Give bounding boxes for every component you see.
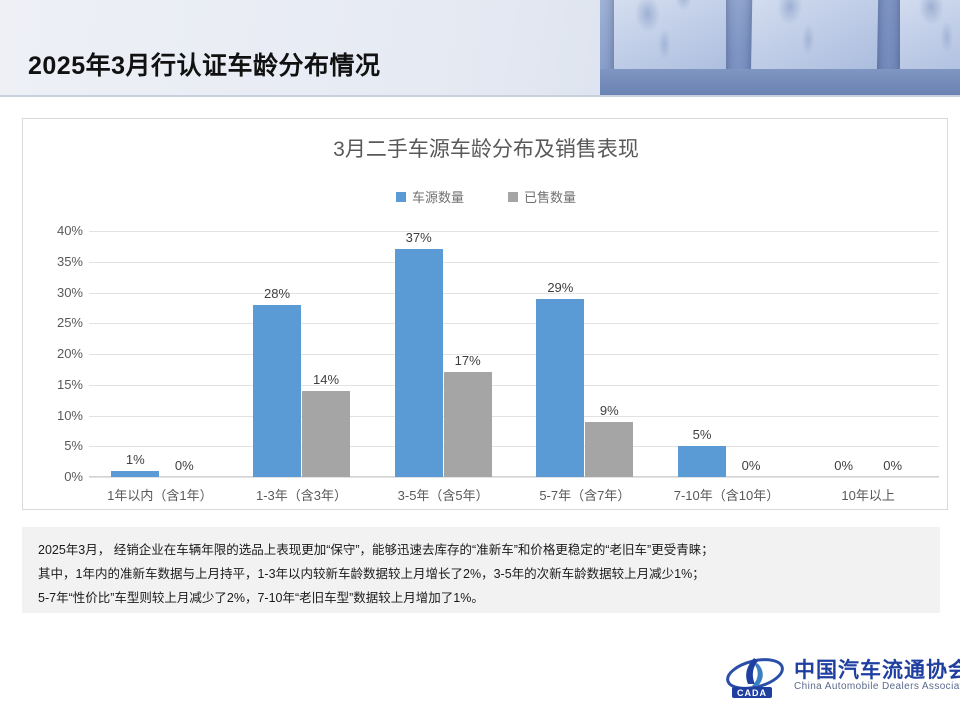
x-axis-category-label: 10年以上 <box>788 485 948 504</box>
gridline <box>89 416 939 417</box>
legend-label: 已售数量 <box>524 187 576 206</box>
bar-value-label: 0% <box>160 458 208 473</box>
chart-title: 3月二手车源车龄分布及销售表现 <box>23 133 949 163</box>
legend-swatch-icon <box>396 192 406 202</box>
y-axis-tick-label: 30% <box>37 285 83 300</box>
footnote-line-1: 其中，1年内的准新车数据与上月持平，1-3年以内较新车龄数据较上月增长了2%，3… <box>38 562 924 586</box>
header-band: 2025年3月行认证车龄分布情况 <box>0 0 960 95</box>
bar-1[interactable]: 9% <box>585 231 633 477</box>
bar-fill <box>395 249 443 477</box>
bar-value-label: 28% <box>253 286 301 301</box>
gridline <box>89 231 939 232</box>
y-axis-tick-label: 40% <box>37 223 83 238</box>
header-decoration-image <box>600 0 960 95</box>
y-axis-tick-label: 0% <box>37 469 83 484</box>
bar-value-label: 5% <box>678 427 726 442</box>
bar-fill <box>585 422 633 477</box>
y-axis-tick-label: 10% <box>37 408 83 423</box>
gridline <box>89 354 939 355</box>
gridline <box>89 385 939 386</box>
bar-value-label: 0% <box>869 458 917 473</box>
y-axis-tick-label: 25% <box>37 315 83 330</box>
logo-name-en: China Automobile Dealers Association <box>794 681 960 692</box>
bar-value-label: 1% <box>111 452 159 467</box>
x-axis-line <box>89 476 939 477</box>
decoration-floor <box>600 69 960 95</box>
x-axis-category-label: 3-5年（含5年） <box>363 485 523 504</box>
bar-value-label: 9% <box>585 403 633 418</box>
bar-fill <box>536 299 584 477</box>
y-axis-tick-label: 35% <box>37 254 83 269</box>
bar-fill <box>111 471 159 477</box>
bar-0[interactable]: 28% <box>253 231 301 477</box>
footnote-line-0: 2025年3月， 经销企业在车辆年限的选品上表现更加“保守”，能够迅速去库存的“… <box>38 538 924 562</box>
cada-logo-icon: CADA <box>724 654 786 700</box>
organization-logo: CADA 中国汽车流通协会 China Automobile Dealers A… <box>724 652 940 704</box>
bar-value-label: 14% <box>302 372 350 387</box>
bar-1[interactable]: 0% <box>869 231 917 477</box>
bar-group: 0%0% <box>820 231 917 477</box>
legend-label: 车源数量 <box>412 187 464 206</box>
bar-group: 28%14% <box>253 231 350 477</box>
bar-0[interactable]: 29% <box>536 231 584 477</box>
decorative-cube <box>900 0 960 75</box>
bar-fill <box>253 305 301 477</box>
legend-entry-1[interactable]: 已售数量 <box>508 187 576 206</box>
gridline <box>89 262 939 263</box>
gridline <box>89 323 939 324</box>
bar-1[interactable]: 14% <box>302 231 350 477</box>
bar-group: 5%0% <box>678 231 775 477</box>
chart-plot-area: 40%35%30%25%20%15%10%5%0%1%0%1年以内（含1年）28… <box>89 231 939 477</box>
logo-name-cn: 中国汽车流通协会 <box>794 654 960 684</box>
bar-0[interactable]: 37% <box>395 231 443 477</box>
x-axis-category-label: 5-7年（含7年） <box>505 485 665 504</box>
y-axis-tick-label: 15% <box>37 377 83 392</box>
header-divider <box>0 95 960 97</box>
x-axis-category-label: 1-3年（含3年） <box>222 485 382 504</box>
bar-group: 29%9% <box>536 231 633 477</box>
bar-0[interactable]: 1% <box>111 231 159 477</box>
bar-fill <box>302 391 350 477</box>
bar-1[interactable]: 0% <box>160 231 208 477</box>
chart-panel: 3月二手车源车龄分布及销售表现 车源数量已售数量 40%35%30%25%20%… <box>22 118 948 510</box>
bar-value-label: 0% <box>727 458 775 473</box>
gridline <box>89 293 939 294</box>
bar-value-label: 29% <box>536 280 584 295</box>
world-map-texture <box>900 0 960 75</box>
gridline <box>89 446 939 447</box>
bar-1[interactable]: 17% <box>444 231 492 477</box>
bar-group: 1%0% <box>111 231 208 477</box>
svg-text:CADA: CADA <box>737 688 767 698</box>
chart-legend: 车源数量已售数量 <box>23 187 949 206</box>
legend-entry-0[interactable]: 车源数量 <box>396 187 464 206</box>
x-axis-category-label: 1年以内（含1年） <box>80 485 240 504</box>
bar-group: 37%17% <box>395 231 492 477</box>
footnote-box: 2025年3月， 经销企业在车辆年限的选品上表现更加“保守”，能够迅速去库存的“… <box>22 527 940 613</box>
x-axis-category-label: 7-10年（含10年） <box>647 485 807 504</box>
bar-value-label: 0% <box>820 458 868 473</box>
bar-fill <box>678 446 726 477</box>
y-axis-tick-label: 20% <box>37 346 83 361</box>
bar-0[interactable]: 5% <box>678 231 726 477</box>
bar-0[interactable]: 0% <box>820 231 868 477</box>
bar-value-label: 37% <box>395 230 443 245</box>
gridline <box>89 477 939 478</box>
bar-fill <box>444 372 492 477</box>
slide-page: 2025年3月行认证车龄分布情况 3月二手车源车龄分布及销售表现 车源数量已售数… <box>0 0 960 720</box>
bar-value-label: 17% <box>444 353 492 368</box>
footnote-line-2: 5-7年“性价比”车型则较上月减少了2%，7-10年“老旧车型”数据较上月增加了… <box>38 586 924 610</box>
bar-1[interactable]: 0% <box>727 231 775 477</box>
legend-swatch-icon <box>508 192 518 202</box>
y-axis-tick-label: 5% <box>37 438 83 453</box>
page-title: 2025年3月行认证车龄分布情况 <box>28 46 381 82</box>
